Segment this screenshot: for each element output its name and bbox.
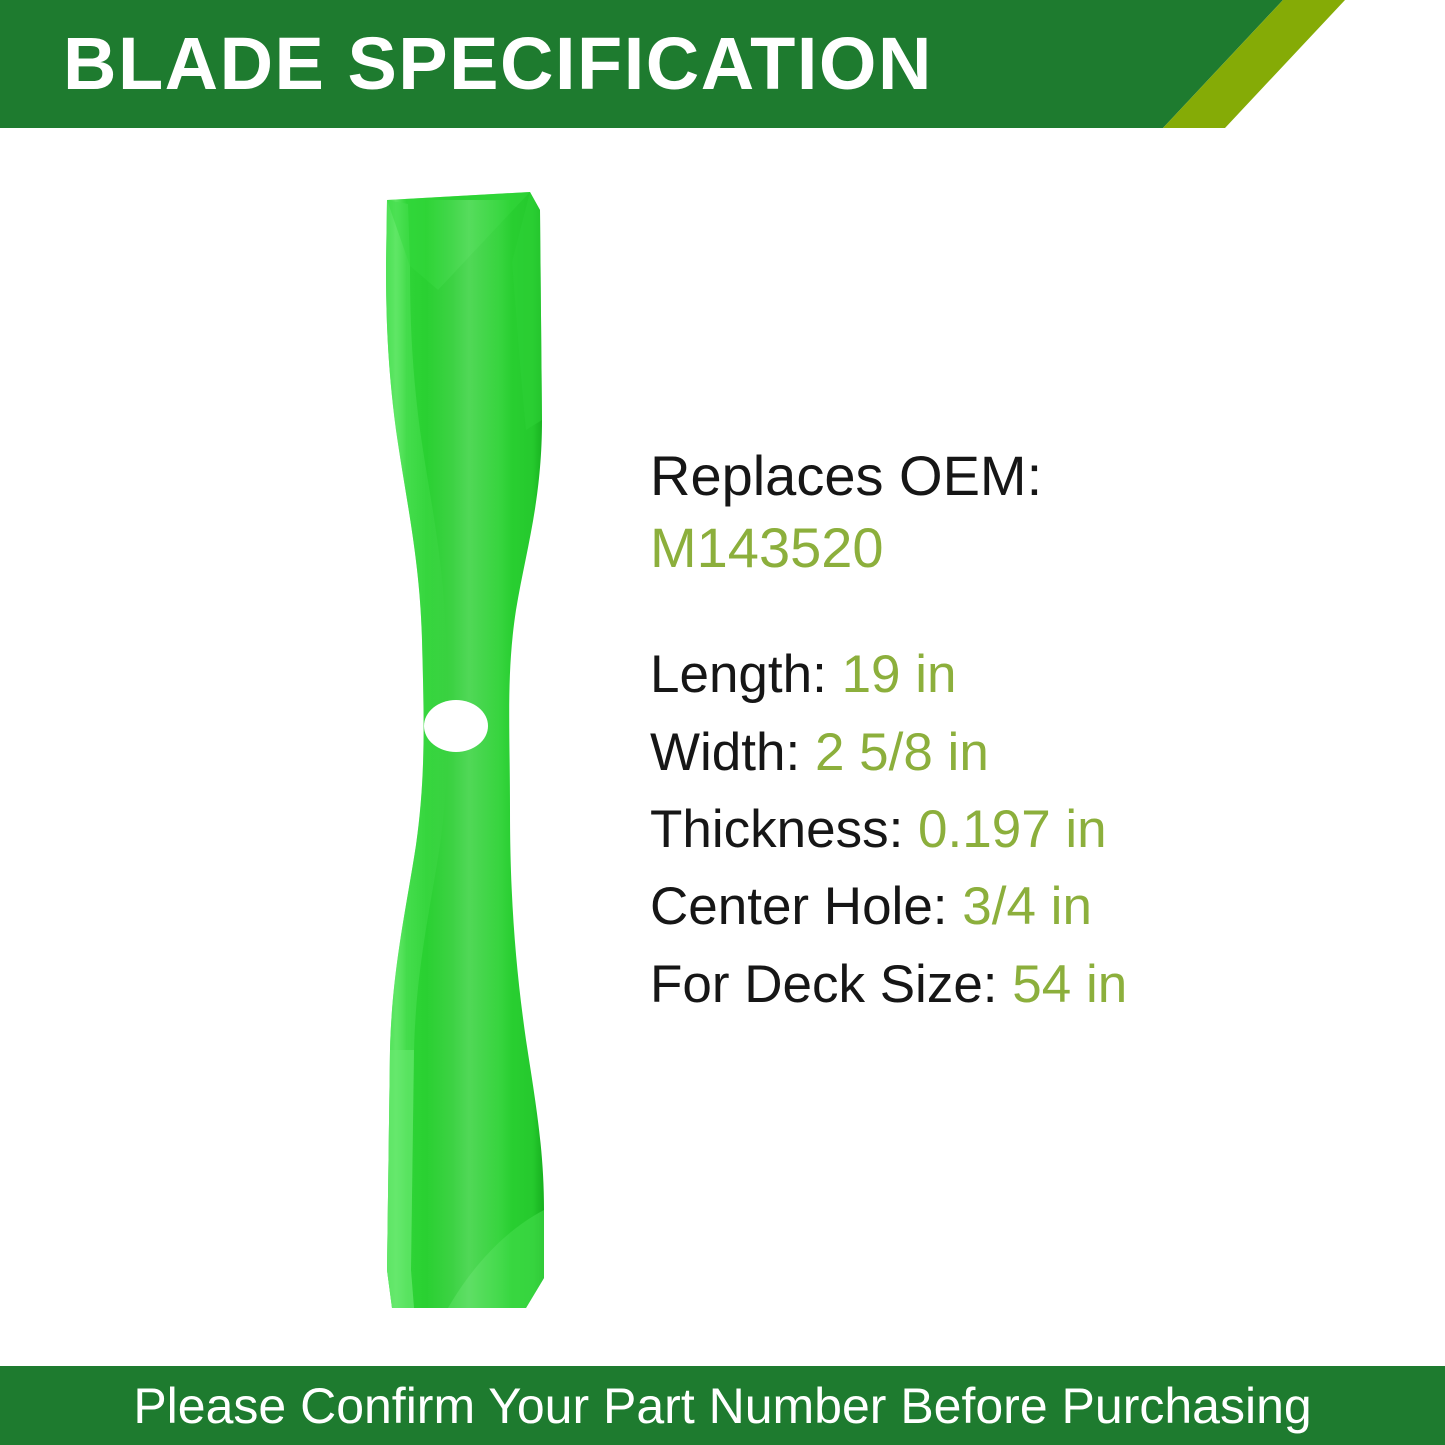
footer-notice-text: Please Confirm Your Part Number Before P… <box>0 1366 1445 1445</box>
spec-label-length: Length: <box>650 645 827 704</box>
page-title: BLADE SPECIFICATION <box>63 10 1063 118</box>
spec-row-width: Width: 2 5/8 in <box>650 714 1350 791</box>
oem-label: Replaces OEM: <box>650 440 1350 512</box>
spec-value-length: 19 in <box>842 645 957 704</box>
specifications-panel: Replaces OEM: M143520 Length: 19 in Widt… <box>650 440 1350 1023</box>
spec-value-deck-size: 54 in <box>1012 955 1127 1014</box>
spec-row-list: Length: 19 in Width: 2 5/8 in Thickness:… <box>650 636 1350 1023</box>
spec-value-thickness: 0.197 in <box>918 800 1107 859</box>
spec-row-center-hole: Center Hole: 3/4 in <box>650 868 1350 945</box>
spec-label-width: Width: <box>650 723 800 782</box>
blade-center-hole <box>424 700 488 752</box>
blade-sheen <box>426 200 512 1308</box>
spec-label-thickness: Thickness: <box>650 800 903 859</box>
blade-product-image <box>330 170 610 1330</box>
spec-value-center-hole: 3/4 in <box>962 877 1092 936</box>
spec-row-thickness: Thickness: 0.197 in <box>650 791 1350 868</box>
blade-specification-page: BLADE SPECIFICATION <box>0 0 1445 1445</box>
oem-value: M143520 <box>650 512 1350 584</box>
spec-row-length: Length: 19 in <box>650 636 1350 713</box>
spec-row-deck-size: For Deck Size: 54 in <box>650 946 1350 1023</box>
spec-label-center-hole: Center Hole: <box>650 877 948 936</box>
spec-label-deck-size: For Deck Size: <box>650 955 998 1014</box>
blade-bottom-crease <box>387 1050 414 1308</box>
footer-banner: Please Confirm Your Part Number Before P… <box>0 1366 1445 1445</box>
spec-value-width: 2 5/8 in <box>815 723 989 782</box>
